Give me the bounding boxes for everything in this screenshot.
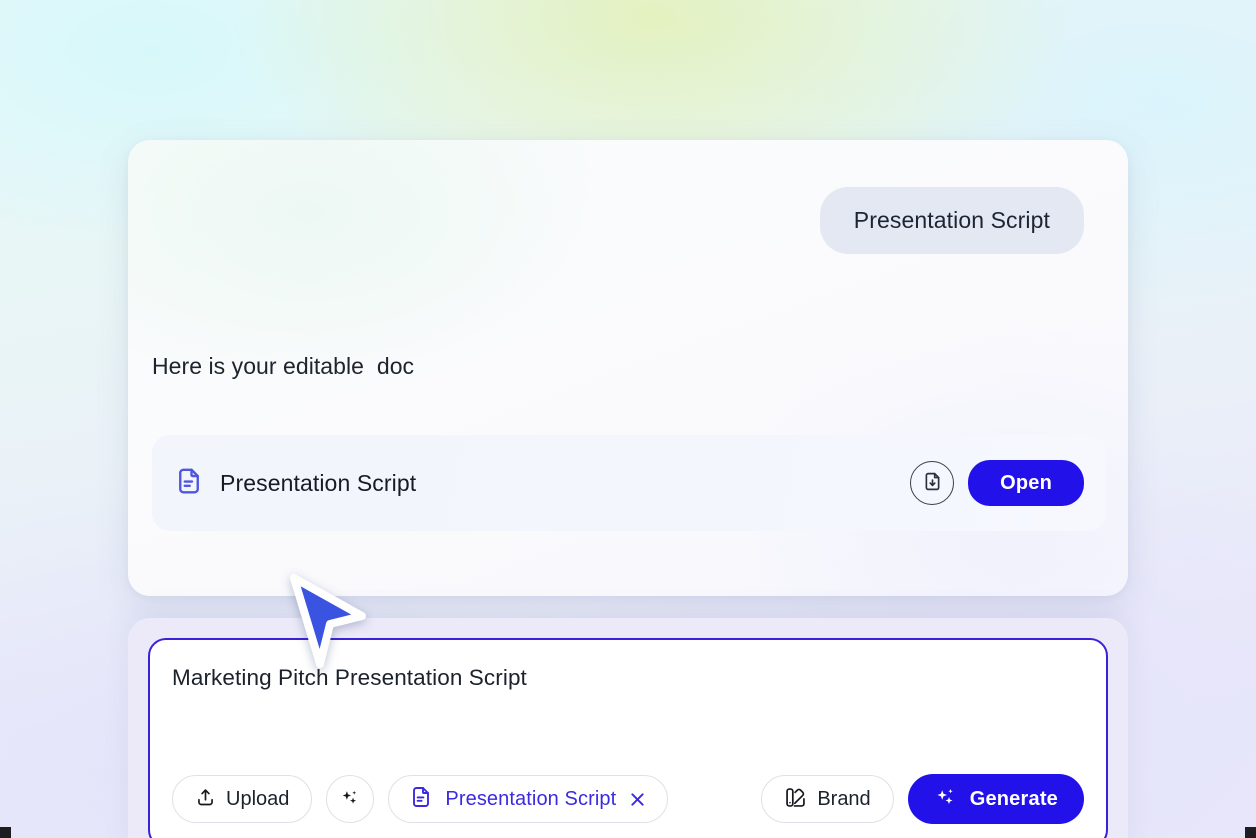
document-card-info: Presentation Script <box>174 466 910 501</box>
open-button[interactable]: Open <box>968 460 1084 506</box>
composer-panel: Upload <box>128 618 1128 838</box>
download-button[interactable] <box>910 461 954 505</box>
brand-button[interactable]: Brand <box>761 775 893 823</box>
file-text-icon <box>409 785 433 814</box>
user-message-bubble: Presentation Script <box>820 187 1084 254</box>
color-swatch-icon <box>784 786 807 813</box>
upload-icon <box>195 787 216 812</box>
sparkles-icon <box>934 785 958 813</box>
upload-button[interactable]: Upload <box>172 775 312 823</box>
attachment-chip[interactable]: Presentation Script <box>388 775 668 823</box>
attachment-label: Presentation Script <box>445 789 616 809</box>
corner-mark-bottom-left <box>0 827 11 838</box>
enhance-prompt-button[interactable] <box>326 775 374 823</box>
generate-button[interactable]: Generate <box>908 774 1084 824</box>
brand-label: Brand <box>817 789 870 809</box>
composer-input-box[interactable]: Upload <box>148 638 1108 838</box>
document-title: Presentation Script <box>220 470 416 497</box>
assistant-message-text: Here is your editable doc <box>152 353 414 380</box>
file-download-icon <box>922 471 943 495</box>
document-card-actions: Open <box>910 460 1084 506</box>
generate-label: Generate <box>970 789 1058 809</box>
sparkles-icon <box>339 787 361 812</box>
prompt-input[interactable] <box>172 662 1084 694</box>
upload-label: Upload <box>226 789 289 809</box>
corner-mark-bottom-right <box>1245 827 1256 838</box>
file-text-icon <box>174 466 204 501</box>
document-result-card[interactable]: Presentation Script Open <box>152 435 1106 531</box>
close-icon[interactable] <box>628 790 647 809</box>
chat-panel: Presentation Script Here is your editabl… <box>128 140 1128 596</box>
composer-toolbar: Upload <box>172 774 1084 824</box>
